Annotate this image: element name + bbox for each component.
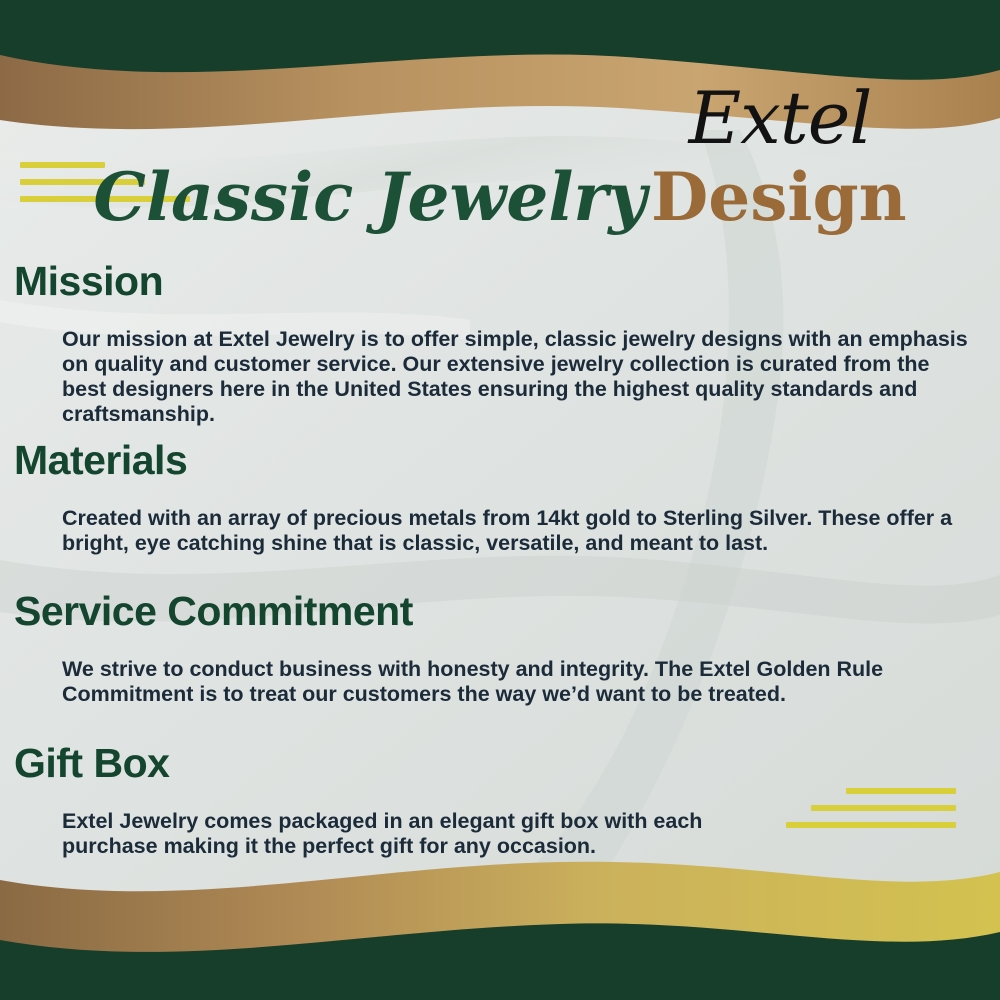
section-materials: Materials Created with an array of preci… <box>14 437 986 577</box>
brand-logo: Extel <box>600 78 960 158</box>
section-body: Our mission at Extel Jewelry is to offer… <box>62 327 974 427</box>
poster-canvas: Extel Classic Jewelry Design Mission Our… <box>0 0 1000 1000</box>
section-heading: Materials <box>14 437 986 484</box>
section-body: Extel Jewelry comes packaged in an elega… <box>62 809 736 859</box>
title-part-one: Classic Jewelry <box>93 158 646 236</box>
page-title: Classic Jewelry Design <box>0 158 1000 236</box>
section-service-commitment: Service Commitment We strive to conduct … <box>14 588 986 728</box>
section-gift-box: Gift Box Extel Jewelry comes packaged in… <box>14 740 986 880</box>
brand-name: Extel <box>600 78 960 158</box>
section-body: Created with an array of precious metals… <box>62 506 974 556</box>
title-part-two: Design <box>651 158 907 236</box>
section-heading: Gift Box <box>14 740 986 787</box>
section-heading: Service Commitment <box>14 588 986 635</box>
section-heading: Mission <box>14 258 986 305</box>
section-mission: Mission Our mission at Extel Jewelry is … <box>14 258 986 448</box>
section-body: We strive to conduct business with hones… <box>62 657 974 707</box>
